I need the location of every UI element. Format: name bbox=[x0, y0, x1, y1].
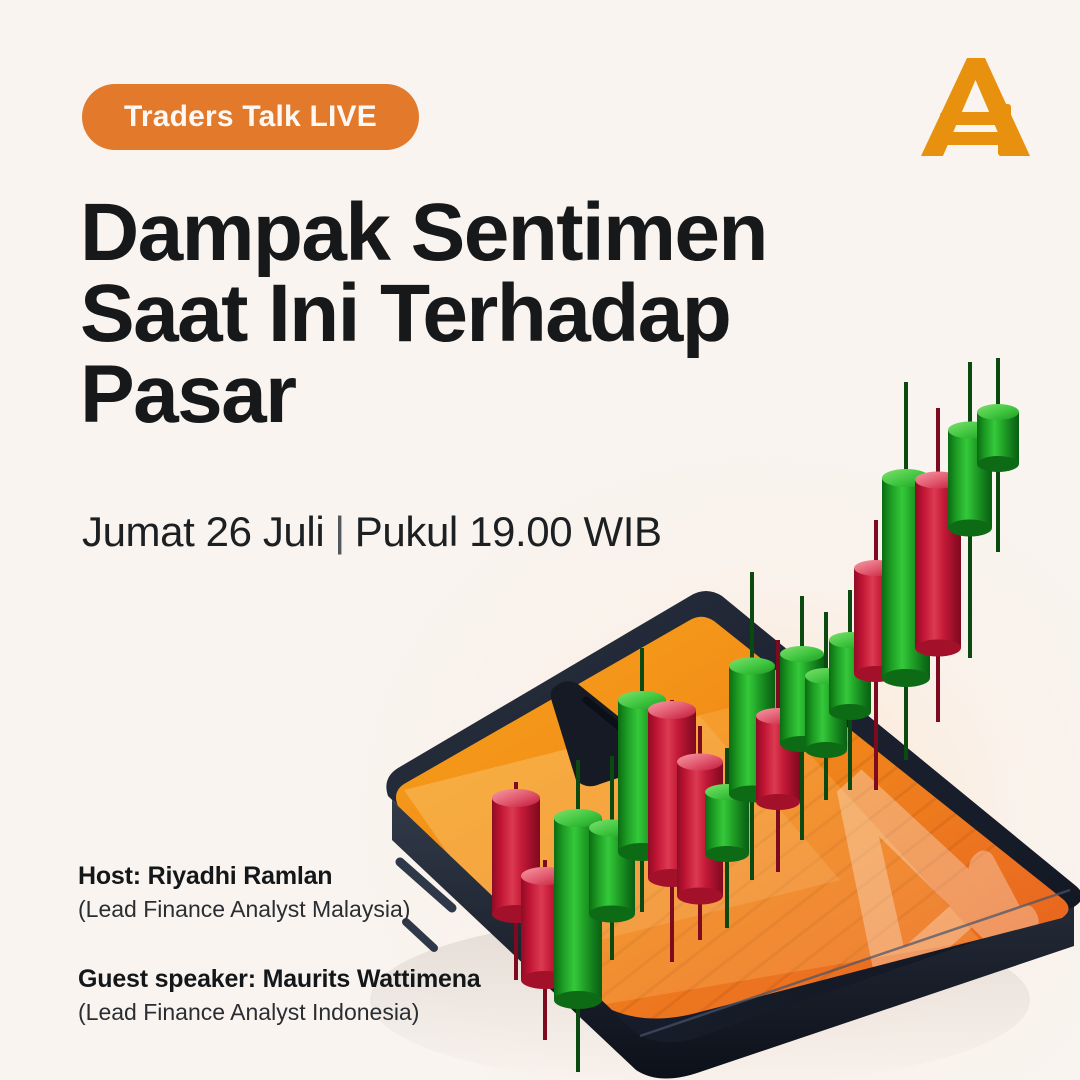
octa-a-logo bbox=[918, 52, 1034, 164]
credits-block: Host: Riyadhi Ramlan (Lead Finance Analy… bbox=[78, 862, 481, 1026]
headline-line-2: Saat Ini Terhadap bbox=[80, 273, 820, 354]
schedule-time: Pukul 19.00 WIB bbox=[355, 508, 662, 555]
schedule-line: Jumat 26 Juli|Pukul 19.00 WIB bbox=[82, 508, 662, 556]
credit-guest-name: Guest speaker: Maurits Wattimena bbox=[78, 965, 481, 994]
headline-line-1: Dampak Sentimen bbox=[80, 192, 820, 273]
live-badge-label: Traders Talk LIVE bbox=[124, 100, 377, 134]
credit-guest-role: (Lead Finance Analyst Indonesia) bbox=[78, 999, 481, 1026]
credits-spacer bbox=[78, 923, 481, 965]
schedule-date: Jumat 26 Juli bbox=[82, 508, 324, 555]
headline-line-3: Pasar bbox=[80, 354, 820, 435]
credit-host-name: Host: Riyadhi Ramlan bbox=[78, 862, 481, 891]
live-badge[interactable]: Traders Talk LIVE bbox=[82, 84, 419, 150]
page-title: Dampak Sentimen Saat Ini Terhadap Pasar bbox=[80, 192, 820, 436]
credit-host-role: (Lead Finance Analyst Malaysia) bbox=[78, 896, 481, 923]
poster-canvas: Traders Talk LIVE Dampak Sentimen Saat I… bbox=[0, 0, 1080, 1080]
credit-guest: Guest speaker: Maurits Wattimena (Lead F… bbox=[78, 965, 481, 1026]
schedule-separator: | bbox=[324, 508, 355, 556]
credit-host: Host: Riyadhi Ramlan (Lead Finance Analy… bbox=[78, 862, 481, 923]
